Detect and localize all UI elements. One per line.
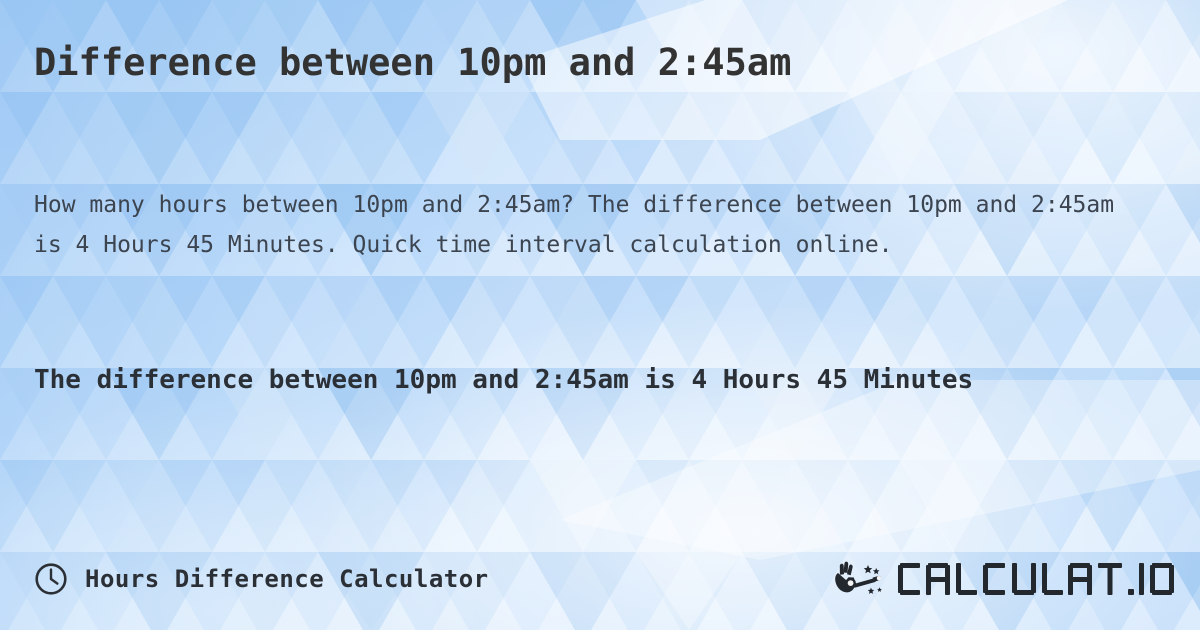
og-image-canvas: Difference between 10pm and 2:45am How m… bbox=[0, 0, 1200, 630]
answer-statement: The difference between 10pm and 2:45am i… bbox=[34, 356, 1114, 404]
page-title: Difference between 10pm and 2:45am bbox=[34, 40, 1164, 86]
footer-label: Hours Difference Calculator bbox=[85, 565, 489, 593]
calculatio-logo[interactable]: CALCULAT.IO bbox=[830, 557, 1176, 601]
footer-bar: Hours Difference Calculator bbox=[34, 556, 1176, 602]
footer-brand: Hours Difference Calculator bbox=[34, 562, 489, 596]
content-area: Difference between 10pm and 2:45am How m… bbox=[0, 0, 1200, 630]
clock-icon bbox=[34, 562, 68, 596]
page-description: How many hours between 10pm and 2:45am? … bbox=[34, 185, 1139, 265]
magic-wand-hand-icon bbox=[830, 557, 890, 601]
logo-wordmark: CALCULAT.IO bbox=[896, 557, 1176, 601]
